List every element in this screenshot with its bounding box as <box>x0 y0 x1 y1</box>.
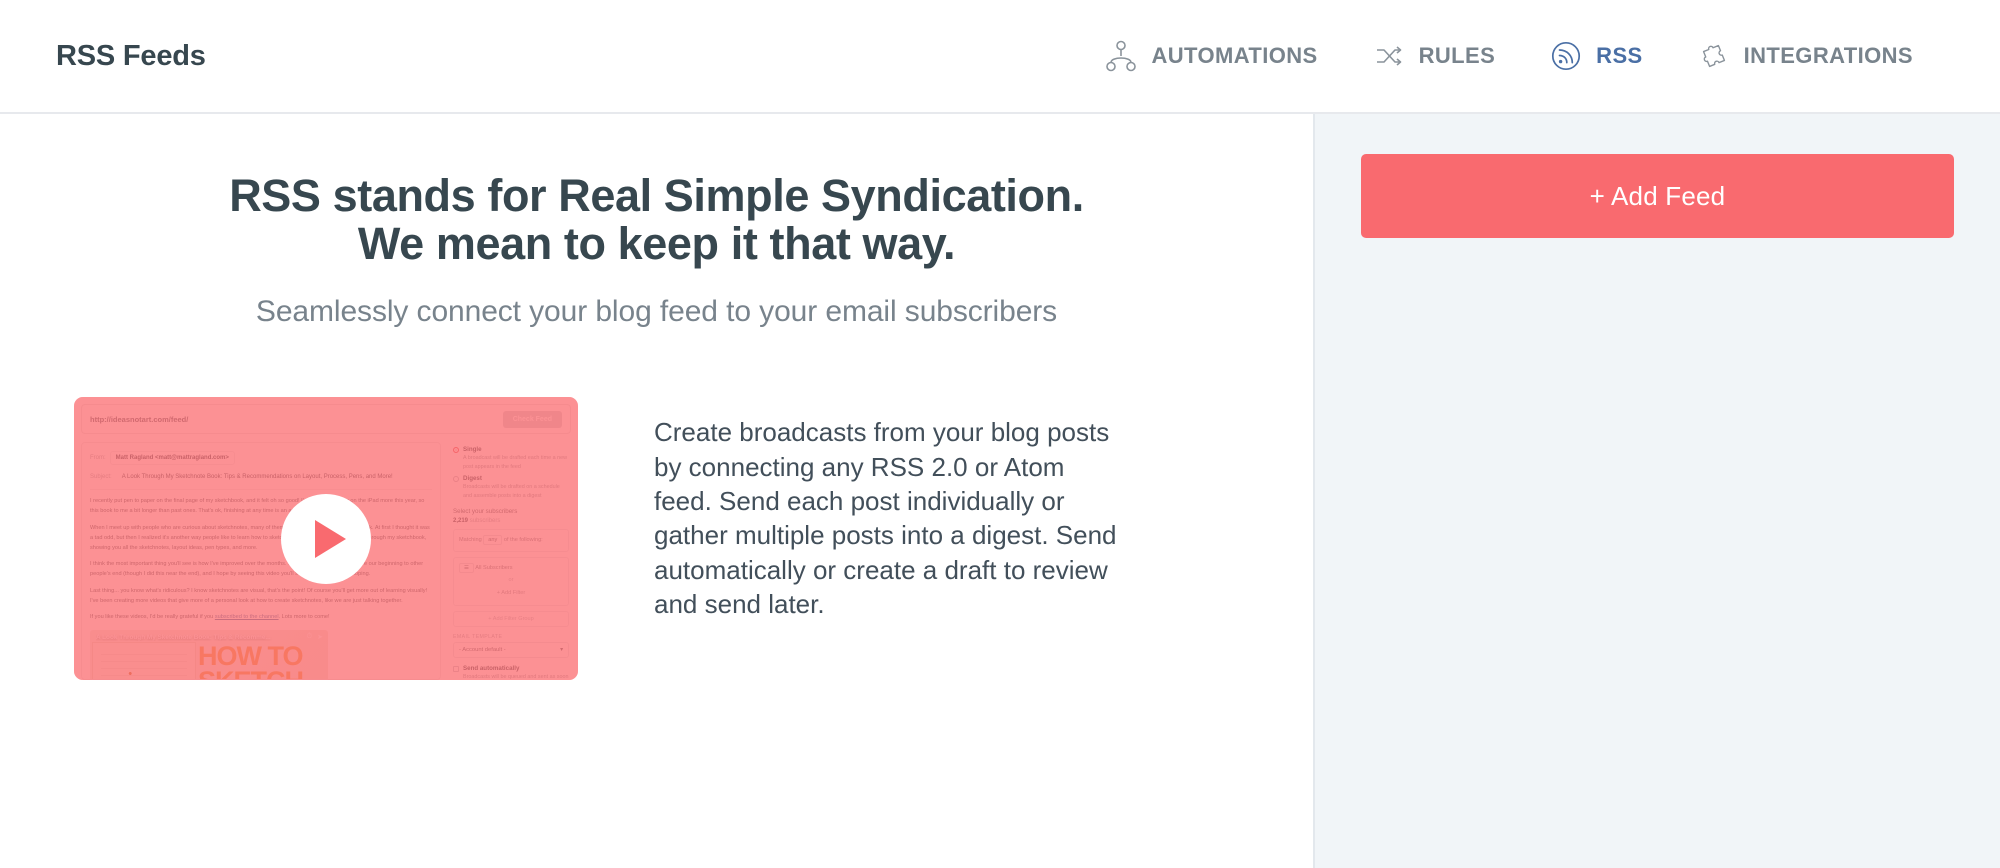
nav-label-automations: AUTOMATIONS <box>1151 43 1317 69</box>
nav-item-integrations[interactable]: INTEGRATIONS <box>1670 39 1940 73</box>
page-title: RSS Feeds <box>56 40 206 73</box>
page-body: RSS stands for Real Simple Syndication. … <box>0 114 2000 868</box>
shuffle-icon <box>1372 39 1406 73</box>
add-feed-button[interactable]: + Add Feed <box>1361 154 1954 238</box>
rss-icon <box>1549 39 1583 73</box>
nav-item-rss[interactable]: RSS <box>1522 39 1669 73</box>
play-icon <box>315 520 346 558</box>
hero-subheading: Seamlessly connect your blog feed to you… <box>0 295 1313 329</box>
video-play-button[interactable] <box>281 494 371 584</box>
hero-section: RSS stands for Real Simple Syndication. … <box>0 114 1313 329</box>
app-header: RSS Feeds AUTOMATIONS <box>0 0 2000 114</box>
nav-item-automations[interactable]: AUTOMATIONS <box>1077 39 1344 73</box>
automations-icon <box>1104 39 1138 73</box>
puzzle-piece-icon <box>1697 39 1731 73</box>
nav-label-rules: RULES <box>1419 43 1496 69</box>
nav-item-rules[interactable]: RULES <box>1345 39 1523 73</box>
rss-description-text: Create broadcasts from your blog posts b… <box>654 397 1124 621</box>
hero-heading: RSS stands for Real Simple Syndication. … <box>92 172 1222 267</box>
nav-label-integrations: INTEGRATIONS <box>1744 43 1913 69</box>
nav-label-rss: RSS <box>1596 43 1642 69</box>
rss-intro-video-thumbnail[interactable]: http://ideasnotart.com/feed/ Check Feed … <box>74 397 578 680</box>
hero-heading-line-2: We mean to keep it that way. <box>92 220 1222 268</box>
main-nav: AUTOMATIONS RULES <box>1077 39 2000 73</box>
content-row: http://ideasnotart.com/feed/ Check Feed … <box>0 397 1313 680</box>
right-panel: + Add Feed <box>1313 114 2000 868</box>
main-content: RSS stands for Real Simple Syndication. … <box>0 114 1313 868</box>
hero-heading-line-1: RSS stands for Real Simple Syndication. <box>92 172 1222 220</box>
